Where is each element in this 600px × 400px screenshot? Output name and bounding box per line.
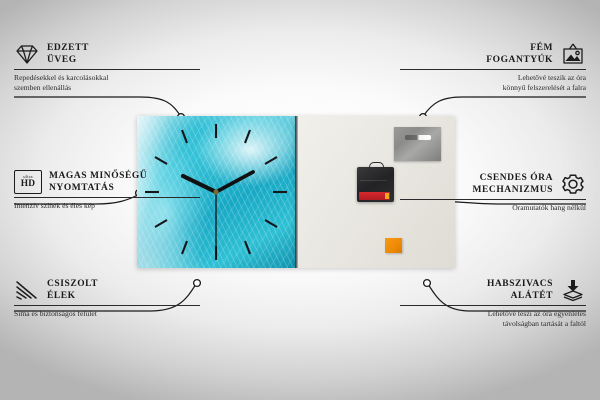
feature-title: HABSZIVACS ALÁTÉT (487, 278, 553, 302)
feature-title-line1: MAGAS MINŐSÉGŰ (49, 170, 147, 182)
badge-main-label: HD (21, 180, 35, 189)
feature-header: ultra HD MAGAS MINŐSÉGŰ NYOMTATÁS (14, 170, 200, 196)
feature-header: CSISZOLT ÉLEK (14, 278, 200, 304)
glass-edge (295, 116, 298, 268)
feature-header: EDZETT ÜVEG (14, 42, 200, 68)
minute-hand (216, 172, 253, 192)
feature-title: CSISZOLT ÉLEK (47, 278, 98, 302)
battery (359, 192, 390, 200)
feature-desc-line2: szemben ellenállás (14, 83, 200, 93)
feature-title-line1: HABSZIVACS (487, 278, 553, 290)
connector-line-fogantyuk (424, 97, 586, 115)
feature-title: FÉM FOGANTYÚK (486, 42, 553, 66)
feature-title-line2: MECHANIZMUS (473, 184, 553, 196)
feature-divider (400, 199, 586, 200)
feature-description: Lehetővé teszik az óra könnyű felszerelé… (400, 73, 586, 92)
infographic-canvas: EDZETT ÜVEG Repedésekkel és karcolásokka… (0, 0, 600, 400)
feature-csendes-ora-mechanizmus: CSENDES ÓRA MECHANIZMUS Óramutatók hang … (400, 172, 586, 213)
feature-desc-line1: Lehetővé teszik az óra (400, 73, 586, 83)
feature-description: Sima és biztonságos felület (14, 309, 200, 319)
feature-desc-line2: könnyű felszerelését a falra (400, 83, 586, 93)
mechanism-hook (369, 162, 384, 170)
feature-title: EDZETT ÜVEG (47, 42, 89, 66)
feature-title-line1: CSENDES ÓRA (473, 172, 553, 184)
feature-title: MAGAS MINŐSÉGŰ NYOMTATÁS (49, 170, 147, 194)
foam-pad (385, 238, 402, 253)
polished-edges-icon (14, 278, 40, 302)
feature-edzett-uveg: EDZETT ÜVEG Repedésekkel és karcolásokka… (14, 42, 200, 92)
feature-header: HABSZIVACS ALÁTÉT (400, 278, 586, 304)
ultra-hd-badge-icon: ultra HD (14, 170, 42, 194)
feature-divider (14, 197, 200, 198)
feature-divider (400, 69, 586, 70)
feature-title-line2: ÉLEK (47, 290, 98, 302)
feature-fem-fogantyuk: FÉM FOGANTYÚK Lehetővé teszik az óra kön… (400, 42, 586, 92)
hanger-slot (405, 135, 431, 140)
feature-desc-line2: távolságban tartását a faltól (400, 319, 586, 329)
feature-divider (14, 305, 200, 306)
picture-hanger-icon (560, 42, 586, 66)
feature-title-line2: FOGANTYÚK (486, 54, 553, 66)
feature-title-line2: ÜVEG (47, 54, 89, 66)
feature-divider (14, 69, 200, 70)
feature-desc-line1: Repedésekkel és karcolásokkal (14, 73, 200, 83)
feature-desc-line1: Óramutatók hang nélkül (400, 203, 586, 213)
feature-csiszolt-elek: CSISZOLT ÉLEK Sima és biztonságos felüle… (14, 278, 200, 319)
feature-description: Intenzív színek és éles kép (14, 201, 200, 211)
feature-desc-line1: Intenzív színek és éles kép (14, 201, 200, 211)
feature-desc-line1: Lehetővé teszi az óra egyenletes (400, 309, 586, 319)
feature-header: FÉM FOGANTYÚK (400, 42, 586, 68)
mechanism-seam (360, 180, 387, 181)
battery-terminal (385, 193, 389, 199)
feature-habszivacs-alatet: HABSZIVACS ALÁTÉT Lehetővé teszi az óra … (400, 278, 586, 328)
foam-pad-icon (560, 278, 586, 302)
feature-header: CSENDES ÓRA MECHANIZMUS (400, 172, 586, 198)
diamond-icon (14, 42, 40, 66)
feature-description: Lehetővé teszi az óra egyenletes távolsá… (400, 309, 586, 328)
feature-magas-minosegu-nyomtatas: ultra HD MAGAS MINŐSÉGŰ NYOMTATÁS Intenz… (14, 170, 200, 211)
feature-divider (400, 305, 586, 306)
feature-title-line2: ALÁTÉT (487, 290, 553, 302)
feature-title-line1: FÉM (486, 42, 553, 54)
gear-icon (560, 172, 586, 196)
metal-hanger (394, 127, 441, 161)
feature-title-line1: EDZETT (47, 42, 89, 54)
feature-title-line1: CSISZOLT (47, 278, 98, 290)
clock-center-cap (213, 189, 218, 194)
connector-line-edzett (14, 97, 180, 115)
feature-title: CSENDES ÓRA MECHANIZMUS (473, 172, 553, 196)
feature-title-line2: NYOMTATÁS (49, 182, 147, 194)
feature-description: Óramutatók hang nélkül (400, 203, 586, 213)
feature-desc-line1: Sima és biztonságos felület (14, 309, 200, 319)
feature-description: Repedésekkel és karcolásokkal szemben el… (14, 73, 200, 92)
quartz-mechanism (357, 167, 394, 202)
